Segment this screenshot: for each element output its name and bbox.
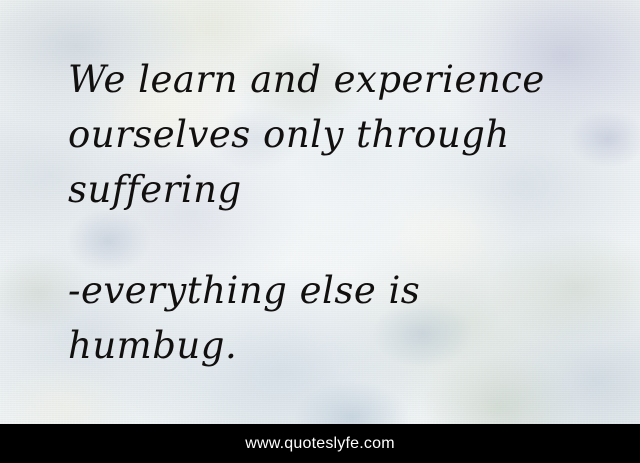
- quote-card: We learn and experience ourselves only t…: [0, 0, 640, 463]
- quote-line-2: ourselves only through: [68, 107, 596, 162]
- footer-website-url[interactable]: www.quoteslyfe.com: [245, 435, 394, 453]
- attribution-line-1: -everything else is: [68, 263, 596, 318]
- quote-line-3: suffering: [68, 162, 596, 217]
- footer-bar: www.quoteslyfe.com: [0, 424, 640, 463]
- quote-text-block: We learn and experience ourselves only t…: [68, 52, 596, 373]
- quote-line-1: We learn and experience: [68, 52, 596, 107]
- attribution-line-2: humbug.: [68, 318, 596, 373]
- quote-attribution-block: -everything else is humbug.: [68, 263, 596, 373]
